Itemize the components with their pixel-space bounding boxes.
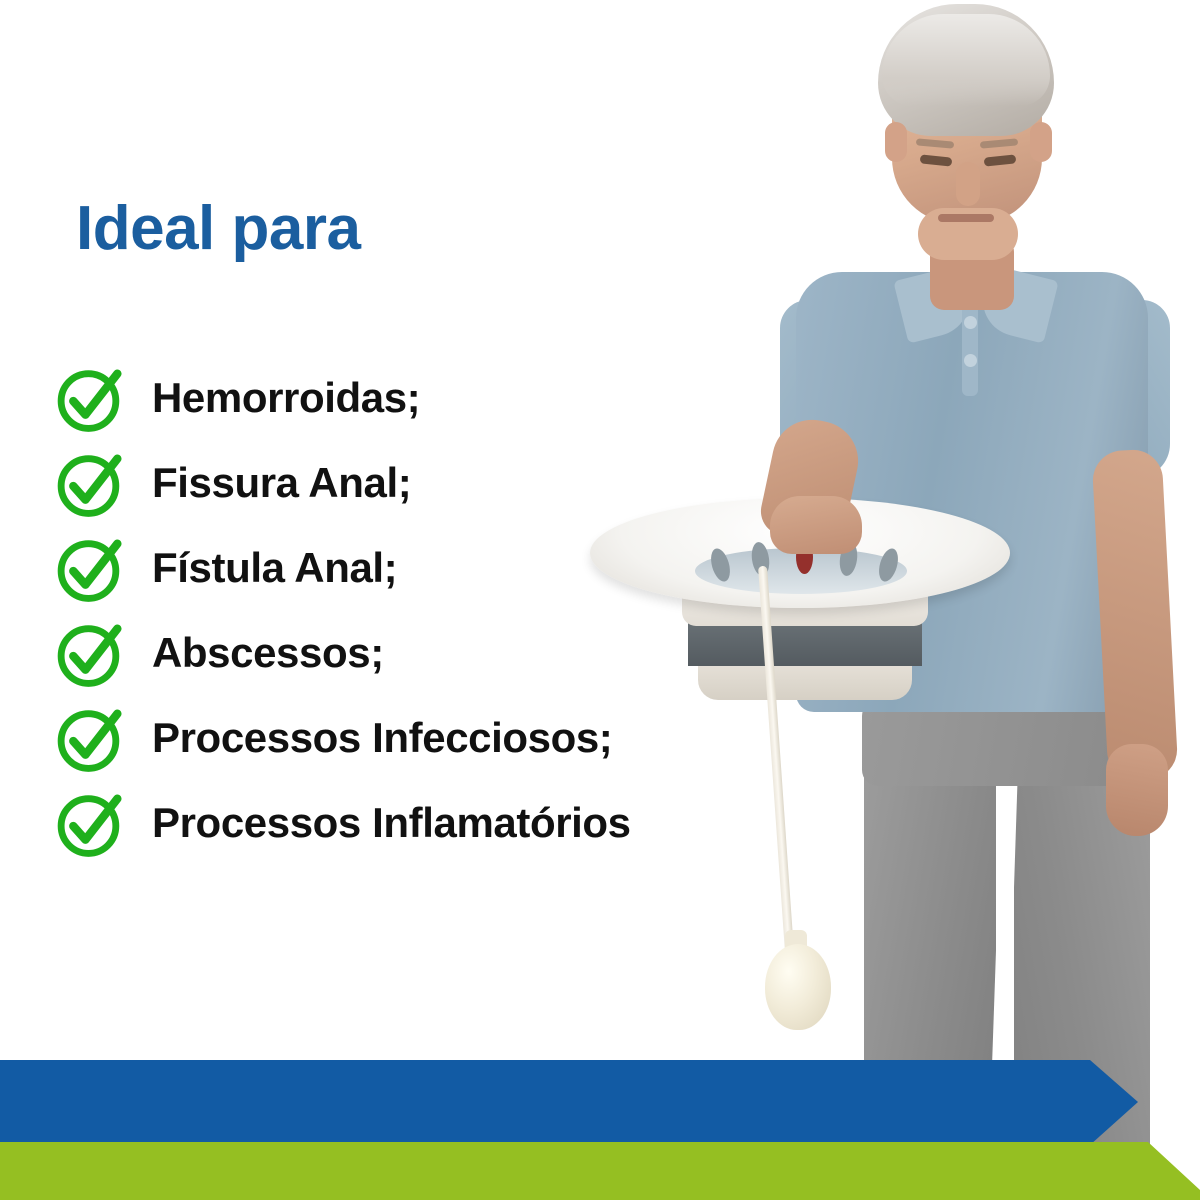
- green-check-circle-icon: [52, 700, 128, 776]
- green-check-circle-icon: [52, 615, 128, 691]
- benefit-label: Abscessos;: [152, 619, 384, 687]
- benefit-label: Fístula Anal;: [152, 534, 397, 602]
- list-item: Fístula Anal;: [52, 528, 812, 613]
- hair-front: [882, 14, 1050, 106]
- list-item: Processos Inflamatórios: [52, 783, 812, 868]
- shirt-placket: [962, 300, 978, 396]
- list-item: Abscessos;: [52, 613, 812, 698]
- mouth: [938, 214, 994, 222]
- squeeze-bulb: [765, 944, 831, 1030]
- list-item: Hemorroidas;: [52, 358, 812, 443]
- shirt-button-bottom: [964, 354, 977, 367]
- marketing-image-canvas: Ideal para Hemorroidas; Fissura Anal; Fí…: [0, 0, 1200, 1200]
- list-item: Processos Infecciosos;: [52, 698, 812, 783]
- list-item: Fissura Anal;: [52, 443, 812, 528]
- benefit-list: Hemorroidas; Fissura Anal; Fístula Anal;…: [52, 358, 812, 868]
- green-check-circle-icon: [52, 785, 128, 861]
- benefit-label: Hemorroidas;: [152, 364, 420, 432]
- benefit-label: Processos Inflamatórios: [152, 789, 631, 857]
- green-check-circle-icon: [52, 360, 128, 436]
- ear-right: [1030, 122, 1052, 162]
- green-check-circle-icon: [52, 530, 128, 606]
- shirt-button-top: [964, 316, 977, 329]
- right-hand: [1106, 744, 1168, 836]
- benefit-label: Fissura Anal;: [152, 449, 411, 517]
- page-title: Ideal para: [76, 196, 360, 261]
- green-check-circle-icon: [52, 445, 128, 521]
- ear-left: [885, 122, 907, 162]
- blue-arrow-band: [0, 1060, 1200, 1145]
- nose: [956, 162, 980, 206]
- benefit-label: Processos Infecciosos;: [152, 704, 612, 772]
- green-banner-band: [0, 1142, 1200, 1200]
